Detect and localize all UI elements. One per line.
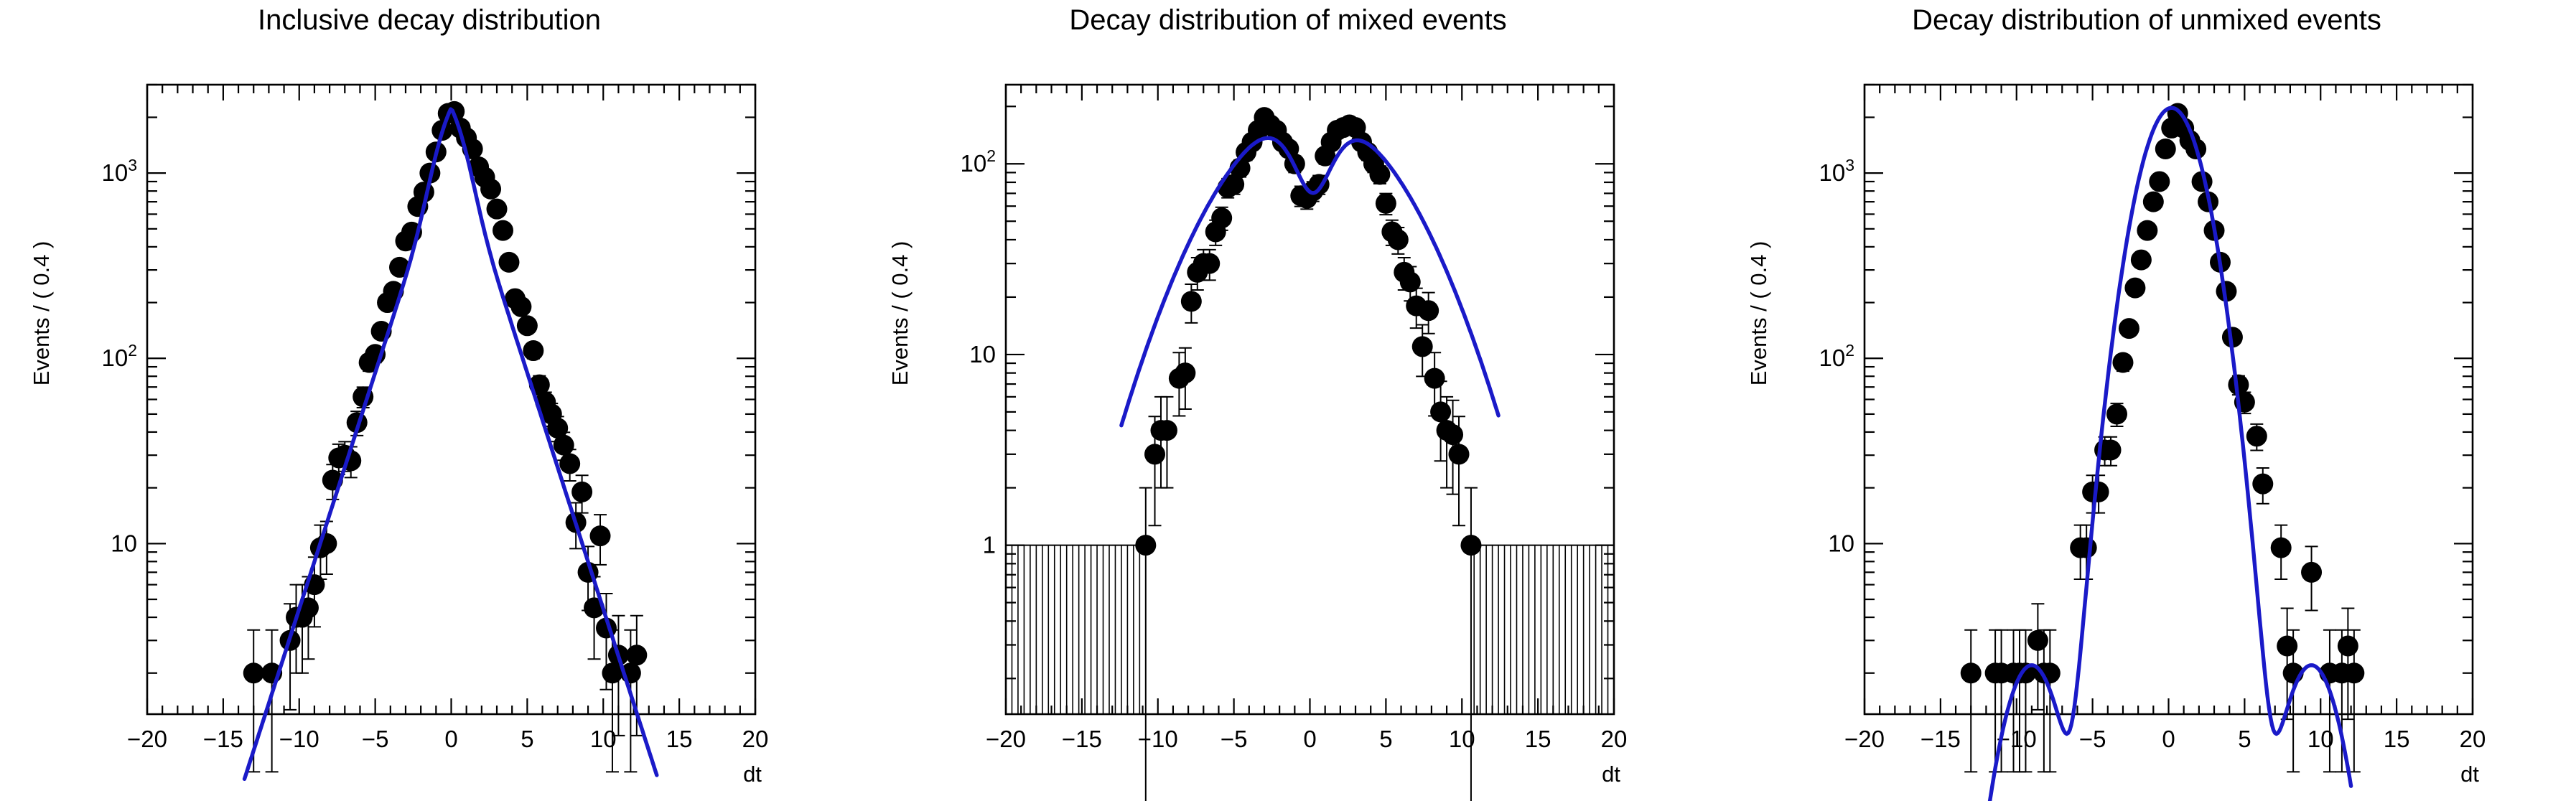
data-point: [1388, 229, 1409, 250]
data-point: [1175, 362, 1195, 383]
data-point: [2076, 538, 2097, 558]
x-tick-label: 5: [521, 726, 533, 752]
data-point: [2301, 562, 2322, 583]
data-point: [1400, 271, 1421, 292]
data-point: [554, 435, 574, 456]
data-point: [2252, 474, 2273, 495]
data-point: [1412, 336, 1433, 357]
data-point: [1430, 401, 1451, 422]
y-tick-label: 102: [1819, 341, 1854, 371]
data-point: [1449, 444, 1470, 464]
data-point: [523, 340, 543, 361]
data-point: [2143, 192, 2164, 212]
data-point: [2149, 171, 2170, 192]
x-tick-label: 20: [742, 726, 769, 752]
y-tick-label: 10: [1828, 530, 1854, 556]
data-point: [1157, 420, 1177, 441]
data-point: [2124, 278, 2145, 299]
x-tick-label: 0: [444, 726, 457, 752]
x-tick-label: −5: [362, 726, 389, 752]
x-tick-label: −15: [203, 726, 243, 752]
plot-area-mixed: −20−15−10−505101520dt110102Events / ( 0.…: [859, 0, 1717, 801]
x-tick-label: −10: [1138, 726, 1178, 752]
data-point: [498, 252, 519, 273]
plot-frame: [147, 85, 755, 714]
data-point: [1369, 164, 1390, 184]
data-point: [510, 296, 531, 317]
y-tick-label: 103: [101, 156, 137, 186]
panel-inclusive: Inclusive decay distribution −20−15−10−5…: [0, 0, 859, 801]
x-axis-title: dt: [1602, 762, 1620, 787]
x-tick-label: 20: [1601, 726, 1628, 752]
fit-curve: [1986, 108, 2351, 801]
data-point: [243, 662, 264, 683]
plot-area-inclusive: −20−15−10−505101520dt10102103Events / ( …: [0, 0, 859, 801]
data-point: [2101, 439, 2122, 460]
x-axis-title: dt: [743, 762, 762, 787]
y-tick-label: 103: [1819, 156, 1854, 186]
data-point: [590, 525, 611, 546]
data-point: [1144, 444, 1165, 464]
y-tick-label: 1: [983, 532, 996, 558]
data-point: [1460, 535, 1481, 556]
x-tick-label: −15: [1921, 726, 1961, 752]
data-point: [2131, 250, 2152, 271]
data-point: [2277, 636, 2297, 657]
fit-curve: [245, 109, 657, 779]
data-point: [2155, 139, 2176, 159]
data-point: [2089, 482, 2109, 502]
data-point: [559, 454, 580, 474]
y-axis-title: Events / ( 0.4 ): [29, 241, 54, 386]
y-axis-title: Events / ( 0.4 ): [1746, 241, 1771, 386]
data-point: [1135, 535, 1156, 556]
data-point: [2027, 630, 2048, 651]
data-point: [493, 220, 513, 241]
x-tick-label: 5: [1379, 726, 1392, 752]
data-point: [517, 315, 538, 336]
data-point: [571, 482, 592, 502]
y-axis-title: Events / ( 0.4 ): [887, 241, 913, 386]
x-tick-label: −20: [986, 726, 1026, 752]
panel-unmixed: Decay distribution of unmixed events −20…: [1717, 0, 2576, 801]
x-tick-label: 20: [2460, 726, 2486, 752]
data-point: [2112, 352, 2133, 373]
x-tick-label: 15: [2384, 726, 2410, 752]
x-tick-label: 0: [1303, 726, 1316, 752]
data-point: [2343, 662, 2364, 683]
y-tick-label: 102: [101, 341, 137, 371]
data-point: [1442, 424, 1463, 445]
x-tick-label: −5: [1221, 726, 1248, 752]
data-point: [1376, 193, 1396, 214]
data-point: [1211, 207, 1232, 228]
panel-mixed: Decay distribution of mixed events −20−1…: [859, 0, 1717, 801]
data-point: [1181, 291, 1202, 311]
plot-area-unmixed: −20−15−10−505101520dt10102103Events / ( …: [1717, 0, 2576, 801]
x-tick-label: 15: [1525, 726, 1551, 752]
data-point: [2271, 538, 2292, 558]
data-point: [1424, 368, 1445, 389]
x-tick-label: 15: [666, 726, 693, 752]
data-point: [626, 645, 647, 665]
x-tick-label: 5: [2238, 726, 2251, 752]
data-point: [487, 199, 508, 220]
data-point: [1961, 662, 1982, 683]
y-tick-label: 10: [969, 341, 996, 367]
x-tick-label: −5: [2079, 726, 2106, 752]
data-point: [2119, 318, 2139, 339]
x-tick-label: 0: [2162, 726, 2175, 752]
x-tick-label: −20: [127, 726, 167, 752]
data-point: [2338, 636, 2358, 657]
data-point: [2106, 403, 2127, 424]
data-point: [1418, 300, 1439, 321]
y-tick-label: 10: [111, 530, 137, 556]
x-tick-label: −10: [279, 726, 319, 752]
y-tick-label: 102: [960, 146, 996, 177]
data-point: [2246, 426, 2267, 446]
x-tick-label: −15: [1062, 726, 1102, 752]
data-point: [480, 179, 501, 200]
data-point: [1199, 253, 1220, 274]
figure-canvas: Inclusive decay distribution −20−15−10−5…: [0, 0, 2576, 801]
x-tick-label: −20: [1844, 726, 1885, 752]
data-point: [2137, 220, 2157, 241]
x-axis-title: dt: [2460, 762, 2479, 787]
